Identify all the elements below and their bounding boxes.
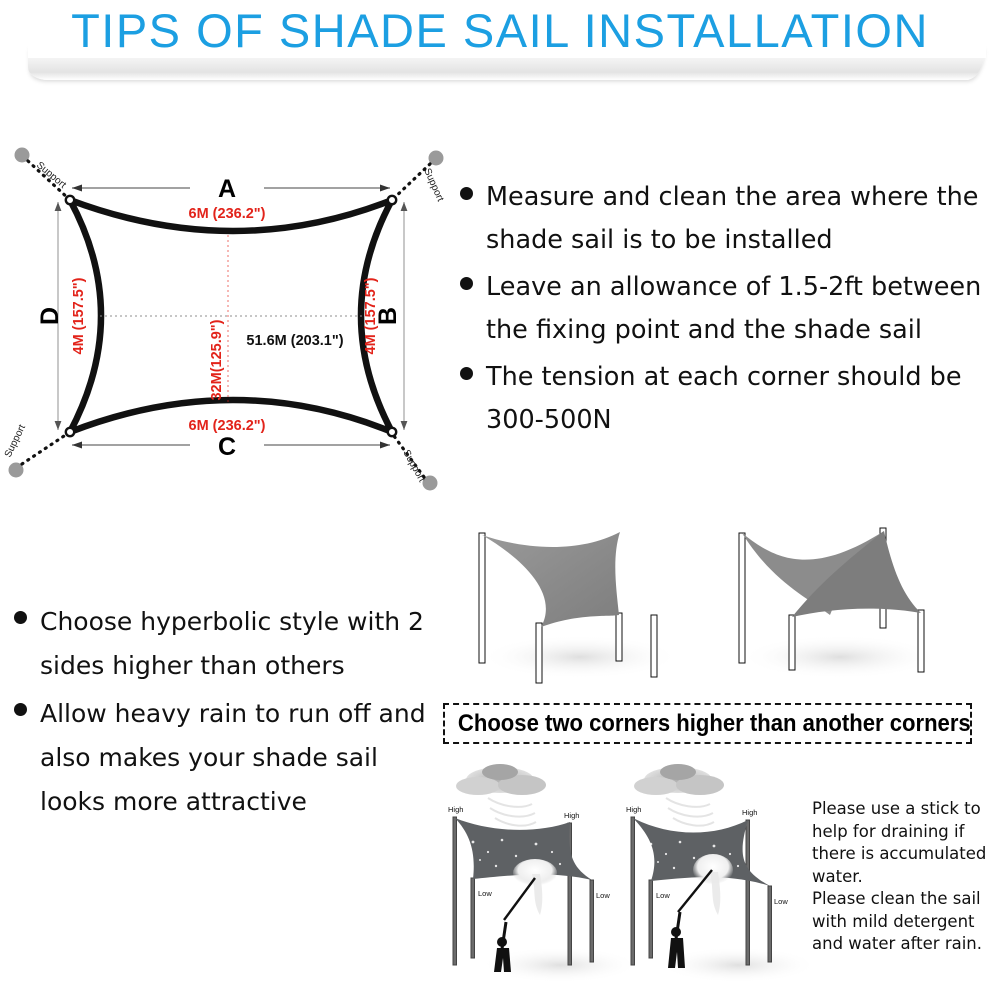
maintenance-note-line: Please use a stick to help for draining … [812,798,1000,888]
shade-sail-3d-examples [440,505,1000,690]
list-item-label: Measure and clean the area where the sha… [486,176,1000,262]
rain-drainage-illustrations: High High Low Low [440,760,810,1000]
title-banner: TIPS OF SHADE SAIL INSTALLATION [0,0,1000,92]
dimension-right: 4M (157.5") [363,277,379,354]
label-low-left: Low [656,891,670,900]
hyperbolic-sail-illustration [739,528,940,679]
maintenance-note-line: Please clean the sail with mild detergen… [812,888,1000,956]
list-item-label: Allow heavy rain to run off and also mak… [40,692,444,824]
ground-shadow [480,635,680,679]
bullet-dot-icon [460,277,473,290]
support-label-topleft: Support [34,160,68,191]
sail-surface [482,532,620,627]
label-high-left: High [448,805,463,814]
label-low-right: Low [596,891,610,900]
bullet-dot-icon [460,367,473,380]
list-item-label: Leave an allowance of 1.5-2ft between th… [486,266,1000,352]
support-leader-bottomleft [22,432,70,464]
list-item-label: Choose hyperbolic style with 2 sides hig… [40,600,444,688]
dimension-top: 6M (236.2") [189,206,266,222]
callout-label: Choose two corners higher than another c… [445,710,971,738]
corner-letter-a: A [218,175,236,203]
list-item: Choose hyperbolic style with 2 sides hig… [14,600,444,688]
water-swirl [666,798,714,826]
page-title: TIPS OF SHADE SAIL INSTALLATION [0,3,1000,58]
support-label-topright: Support [421,167,445,204]
list-item: The tension at each corner should be 300… [460,356,1000,442]
cloud-icon [634,764,724,795]
dimension-left: 4M (157.5") [71,277,87,354]
bullet-dot-icon [460,187,473,200]
list-item: Measure and clean the area where the sha… [460,176,1000,262]
hyperbolic-style-tips-list: Choose hyperbolic style with 2 sides hig… [14,600,444,828]
list-item-label: The tension at each corner should be 300… [486,356,1000,442]
rain-scene-right: High High Low Low [626,764,810,983]
label-low-right: Low [774,897,788,906]
water-swirl [488,798,536,826]
water-stream [710,872,720,915]
flat-sail-illustration [479,532,680,683]
page-root: TIPS OF SHADE SAIL INSTALLATION Support … [0,0,1000,1000]
dimension-horizontal-center: 51.6M (203.1") [246,333,343,349]
dimension-vertical-center: 32M(125.9") [209,319,225,400]
label-high-right: High [742,808,757,817]
choose-corners-callout: Choose two corners higher than another c… [443,703,972,744]
list-item: Leave an allowance of 1.5-2ft between th… [460,266,1000,352]
corner-ring-d [388,428,396,436]
corner-ring-a [66,196,74,204]
installation-tips-list: Measure and clean the area where the sha… [460,176,1000,446]
bullet-dot-icon [14,611,27,624]
support-label-bottomright: Support [400,448,427,484]
label-high-left: High [626,805,641,814]
label-low-left: Low [478,889,492,898]
dimension-bottom: 6M (236.2") [189,418,266,434]
maintenance-note: Please use a stick to help for draining … [812,798,1000,956]
rain-scene-left: High High Low Low [448,764,640,983]
corner-ring-b [388,196,396,204]
ground-shadow [740,635,940,679]
corner-letter-c: C [218,433,236,461]
bullet-dot-icon [14,703,27,716]
cloud-icon [456,764,546,795]
label-high-right: High [564,811,579,820]
list-item: Allow heavy rain to run off and also mak… [14,692,444,824]
shade-sail-dimension-diagram: Support Support Support Support A 6M (2 [0,140,470,500]
corner-letter-d: D [36,307,64,325]
corner-ring-c [66,428,74,436]
support-label-bottomleft: Support [3,423,28,460]
